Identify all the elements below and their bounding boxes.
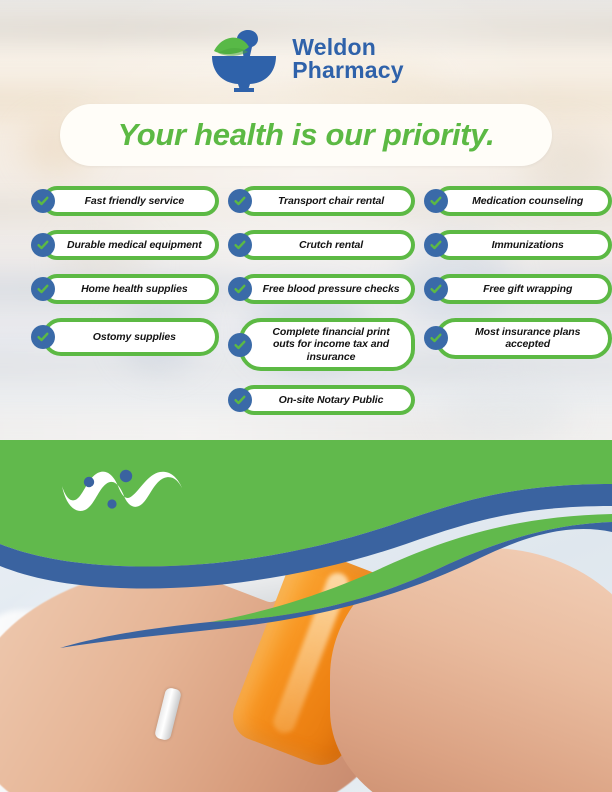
check-circle-icon: [31, 277, 55, 301]
check-circle-icon: [31, 325, 55, 349]
wave-ribbon-icon: [60, 464, 186, 522]
services-column-2: Transport chair rental Crutch rental Fre…: [225, 186, 416, 429]
service-item[interactable]: Free gift wrapping: [435, 274, 612, 304]
accent-dot: [120, 470, 132, 482]
check-circle-icon: [424, 277, 448, 301]
service-item[interactable]: Ostomy supplies: [42, 318, 219, 356]
service-item[interactable]: Most insurance plans accepted: [435, 318, 612, 359]
service-item[interactable]: Complete financial print outs for income…: [239, 318, 416, 371]
check-circle-icon: [31, 189, 55, 213]
mortar-and-pestle-icon: [208, 26, 280, 92]
service-label: Durable medical equipment: [67, 239, 202, 251]
service-label: Complete financial print outs for income…: [261, 326, 402, 363]
headline-banner: Your health is our priority.: [60, 104, 552, 166]
service-label: Crutch rental: [299, 239, 363, 251]
service-label: On-site Notary Public: [279, 394, 384, 406]
check-circle-icon: [228, 333, 252, 357]
services-list: Fast friendly service Durable medical eq…: [0, 186, 612, 429]
service-label: Medication counseling: [472, 195, 583, 207]
service-item[interactable]: Immunizations: [435, 230, 612, 260]
services-column-1: Fast friendly service Durable medical eq…: [28, 186, 219, 429]
check-circle-icon: [31, 233, 55, 257]
brand-logo: Weldon Pharmacy: [0, 22, 612, 96]
service-item[interactable]: On-site Notary Public: [239, 385, 416, 415]
service-label: Home health supplies: [81, 283, 188, 295]
service-label: Free gift wrapping: [483, 283, 572, 295]
service-label: Transport chair rental: [278, 195, 384, 207]
service-label: Most insurance plans accepted: [457, 326, 598, 351]
headline-text: Your health is our priority.: [118, 117, 495, 153]
flyer-page: Weldon Pharmacy Your health is our prior…: [0, 0, 612, 792]
service-item[interactable]: Home health supplies: [42, 274, 219, 304]
brand-name-line2: Pharmacy: [292, 59, 404, 82]
service-item[interactable]: Medication counseling: [435, 186, 612, 216]
services-column-3: Medication counseling Immunizations Free…: [421, 186, 612, 429]
service-item[interactable]: Fast friendly service: [42, 186, 219, 216]
check-circle-icon: [228, 388, 252, 412]
service-item[interactable]: Durable medical equipment: [42, 230, 219, 260]
service-item[interactable]: Free blood pressure checks: [239, 274, 416, 304]
check-circle-icon: [424, 326, 448, 350]
service-label: Ostomy supplies: [93, 331, 176, 343]
service-item[interactable]: Crutch rental: [239, 230, 416, 260]
check-circle-icon: [228, 233, 252, 257]
check-circle-icon: [228, 189, 252, 213]
accent-dot: [84, 477, 94, 487]
accent-dot: [107, 499, 116, 508]
check-circle-icon: [424, 189, 448, 213]
brand-name-line1: Weldon: [292, 36, 404, 59]
lower-section: [0, 440, 612, 792]
service-label: Immunizations: [492, 239, 564, 251]
services-columns: Fast friendly service Durable medical eq…: [0, 186, 612, 429]
check-circle-icon: [228, 277, 252, 301]
service-label: Fast friendly service: [85, 195, 184, 207]
service-label: Free blood pressure checks: [263, 283, 400, 295]
check-circle-icon: [424, 233, 448, 257]
brand-name: Weldon Pharmacy: [292, 36, 404, 83]
service-item[interactable]: Transport chair rental: [239, 186, 416, 216]
